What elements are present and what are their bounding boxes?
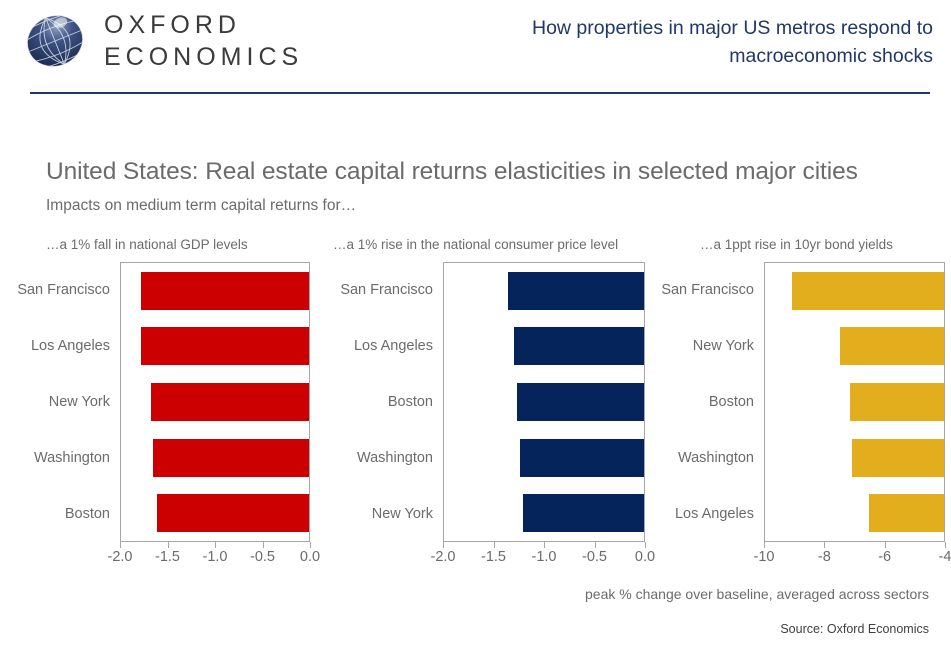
bar[interactable] xyxy=(151,383,309,421)
value-axis: -2.0-1.5-1.0-0.50.0 xyxy=(120,542,310,568)
page-title: United States: Real estate capital retur… xyxy=(46,158,858,186)
bar-slot xyxy=(765,327,944,365)
tick-mark xyxy=(885,542,886,548)
tick-label: -2.0 xyxy=(108,549,133,565)
value-axis: -2.0-1.5-1.0-0.50.0 xyxy=(443,542,645,568)
bar-slot xyxy=(444,439,644,477)
bar[interactable] xyxy=(852,439,944,477)
bar-slot xyxy=(121,494,309,532)
category-label: Boston xyxy=(325,394,433,410)
tick-label: -2.0 xyxy=(431,549,456,565)
tick-marks xyxy=(764,542,945,548)
chart-panel-gdp: …a 1% fall in national GDP levels San Fr… xyxy=(10,236,310,568)
plot-row: San FranciscoLos AngelesBostonWashington… xyxy=(325,262,645,542)
tick-mark xyxy=(168,542,169,548)
panel-title: …a 1% rise in the national consumer pric… xyxy=(325,236,645,254)
tick-label: -1.5 xyxy=(155,549,180,565)
logo-line-economics: ECONOMICS xyxy=(104,41,303,74)
panel-title: …a 1% fall in national GDP levels xyxy=(10,236,310,254)
bar-slot xyxy=(121,439,309,477)
bar-slot xyxy=(444,272,644,310)
category-label: Boston xyxy=(660,394,754,410)
category-axis: San FranciscoLos AngelesBostonWashington… xyxy=(325,262,443,542)
tick-label: -8 xyxy=(818,549,831,565)
logo-line-oxford: OXFORD xyxy=(104,9,303,42)
brand-logo: OXFORD ECONOMICS xyxy=(22,8,303,74)
plot-area xyxy=(120,262,310,542)
tick-label: -1.5 xyxy=(481,549,506,565)
category-label: Los Angeles xyxy=(660,506,754,522)
category-label: San Francisco xyxy=(660,282,754,298)
bar[interactable] xyxy=(508,272,644,310)
bar[interactable] xyxy=(840,327,944,365)
tick-mark xyxy=(595,542,596,548)
tick-mark xyxy=(494,542,495,548)
header-tagline: How properties in major US metros respon… xyxy=(463,14,933,71)
panel-title: …a 1ppt rise in 10yr bond yields xyxy=(660,236,945,254)
value-axis: -10-8-6-4 xyxy=(764,542,945,568)
category-label: New York xyxy=(325,506,433,522)
bar-slot xyxy=(444,383,644,421)
bar-slot xyxy=(121,383,309,421)
category-label: Los Angeles xyxy=(325,338,433,354)
bars-container xyxy=(121,263,309,541)
header-divider xyxy=(30,92,930,94)
bar[interactable] xyxy=(520,439,644,477)
tick-mark xyxy=(764,542,765,548)
footnote: peak % change over baseline, averaged ac… xyxy=(585,586,929,602)
bar-slot xyxy=(444,494,644,532)
bar[interactable] xyxy=(850,383,944,421)
tick-mark xyxy=(544,542,545,548)
bars-container xyxy=(765,263,944,541)
page-subtitle: Impacts on medium term capital returns f… xyxy=(46,197,356,215)
bar-slot xyxy=(444,327,644,365)
tick-mark xyxy=(120,542,121,548)
bar-slot xyxy=(765,439,944,477)
tick-mark xyxy=(945,542,946,548)
tick-mark xyxy=(645,542,646,548)
tick-label: -0.5 xyxy=(582,549,607,565)
tick-label: -10 xyxy=(754,549,775,565)
category-label: San Francisco xyxy=(325,282,433,298)
tick-marks xyxy=(120,542,310,548)
tick-label: -1.0 xyxy=(203,549,228,565)
chart-panel-cpi: …a 1% rise in the national consumer pric… xyxy=(325,236,645,568)
category-label: Washington xyxy=(325,450,433,466)
tick-label: -1.0 xyxy=(532,549,557,565)
bar[interactable] xyxy=(153,439,309,477)
bar-slot xyxy=(765,272,944,310)
tick-mark xyxy=(310,542,311,548)
tick-label: -4 xyxy=(939,549,951,565)
page-header: OXFORD ECONOMICS How properties in major… xyxy=(0,0,951,100)
tick-mark xyxy=(263,542,264,548)
bar-slot xyxy=(121,327,309,365)
category-label: San Francisco xyxy=(10,282,110,298)
bar[interactable] xyxy=(869,494,944,532)
category-label: New York xyxy=(660,338,754,354)
bar-slot xyxy=(765,383,944,421)
logo-wordmark: OXFORD ECONOMICS xyxy=(104,9,303,74)
category-label: Los Angeles xyxy=(10,338,110,354)
category-label: New York xyxy=(10,394,110,410)
bar[interactable] xyxy=(792,272,944,310)
bar[interactable] xyxy=(523,494,644,532)
bar[interactable] xyxy=(157,494,309,532)
plot-row: San FranciscoLos AngelesNew YorkWashingt… xyxy=(10,262,310,542)
chart-panel-bond-yields: …a 1ppt rise in 10yr bond yields San Fra… xyxy=(660,236,945,568)
bar[interactable] xyxy=(514,327,644,365)
tick-label: -6 xyxy=(878,549,891,565)
source-credit: Source: Oxford Economics xyxy=(780,622,929,636)
globe-icon xyxy=(22,8,88,74)
plot-area xyxy=(443,262,645,542)
category-label: Washington xyxy=(10,450,110,466)
category-label: Boston xyxy=(10,506,110,522)
category-axis: San FranciscoNew YorkBostonWashingtonLos… xyxy=(660,262,764,542)
tick-marks xyxy=(443,542,645,548)
bar-slot xyxy=(121,272,309,310)
tick-label: -0.5 xyxy=(250,549,275,565)
category-axis: San FranciscoLos AngelesNew YorkWashingt… xyxy=(10,262,120,542)
bars-container xyxy=(444,263,644,541)
tick-label: 0.0 xyxy=(300,549,320,565)
bar-slot xyxy=(765,494,944,532)
bar[interactable] xyxy=(141,272,309,310)
plot-area xyxy=(764,262,945,542)
plot-row: San FranciscoNew YorkBostonWashingtonLos… xyxy=(660,262,945,542)
tick-label: 0.0 xyxy=(635,549,655,565)
tick-mark xyxy=(215,542,216,548)
tick-mark xyxy=(443,542,444,548)
tick-mark xyxy=(824,542,825,548)
category-label: Washington xyxy=(660,450,754,466)
bar[interactable] xyxy=(517,383,644,421)
bar[interactable] xyxy=(141,327,309,365)
